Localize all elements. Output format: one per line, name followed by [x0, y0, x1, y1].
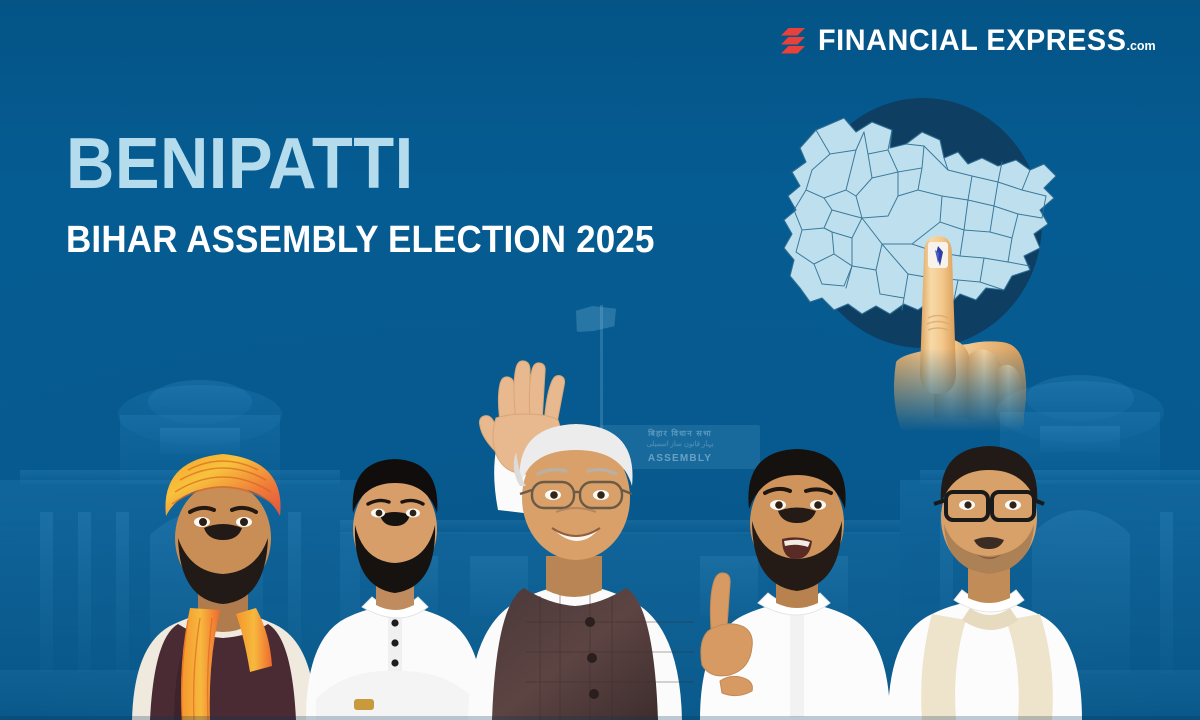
constituency-title: BENIPATTI	[66, 131, 736, 197]
logo-wordmark: FINANCIAL EXPRESS.com	[818, 24, 1156, 58]
election-subtitle: BIHAR ASSEMBLY ELECTION 2025	[66, 221, 728, 259]
inked-finger-icon	[878, 212, 1028, 432]
logo-name: FINANCIAL EXPRESS	[818, 24, 1127, 57]
bihar-map-graphic	[772, 92, 1072, 404]
election-banner: बिहार विधान सभा بہار قانون ساز اسمبلی AS…	[0, 0, 1200, 720]
bottom-strip	[0, 716, 1200, 720]
logo-tld: .com	[1127, 38, 1156, 53]
site-logo[interactable]: FINANCIAL EXPRESS.com	[779, 24, 1170, 58]
financial-express-flame-icon	[779, 26, 807, 56]
headline-block: BENIPATTI BIHAR ASSEMBLY ELECTION 2025	[66, 131, 786, 259]
